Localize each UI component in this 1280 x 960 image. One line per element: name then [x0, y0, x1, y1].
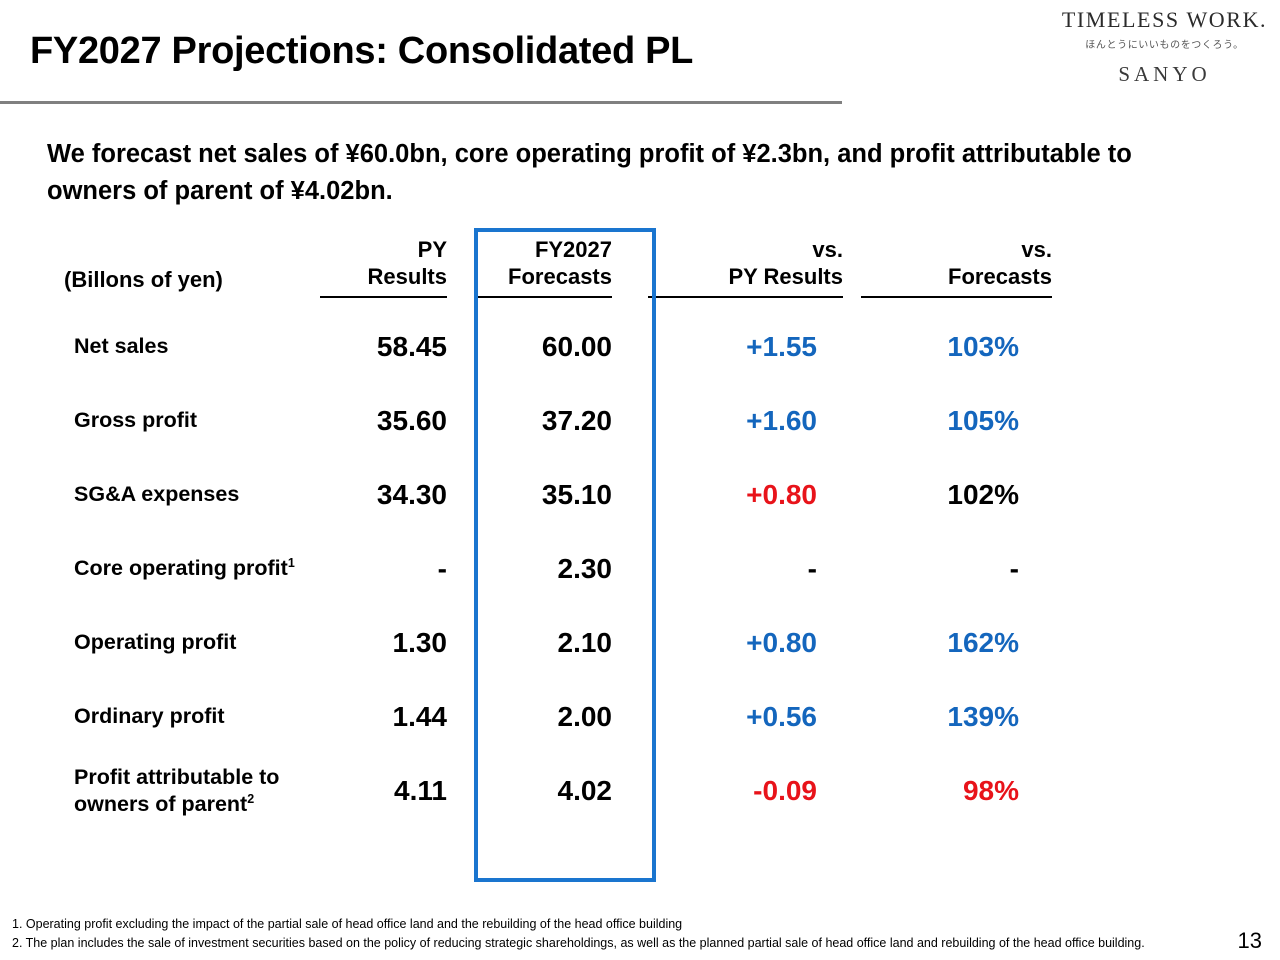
row-label-footnote-marker: 2	[247, 791, 254, 805]
table-row: SG&A expenses34.3035.10+0.80102%	[56, 458, 1056, 532]
row-label-text: Gross profit	[74, 408, 197, 432]
logo-tagline-japanese: ほんとうにいいものをつくろう。	[1057, 36, 1272, 51]
row-label-text: Core operating profit	[74, 556, 288, 580]
cell-fy2027-forecast: 2.10	[461, 606, 634, 680]
row-label: Core operating profit1	[56, 532, 306, 606]
cell-fy2027-forecast: 2.30	[461, 532, 634, 606]
column-header-vs-forecasts: vs. Forecasts	[847, 236, 1056, 310]
column-header-vs-py-results-line2: PY Results	[728, 264, 843, 289]
logo-tagline-main: TIMELESS WORK.	[1057, 8, 1272, 32]
column-header-vs-py-results-line1: vs.	[812, 237, 843, 262]
page-title: FY2027 Projections: Consolidated PL	[30, 30, 693, 73]
row-label: Gross profit	[56, 384, 306, 458]
cell-vs-forecasts: 98%	[847, 754, 1056, 828]
row-label: Ordinary profit	[56, 680, 306, 754]
table-header-row: (Billons of yen) PY Results FY2027 Forec…	[56, 236, 1056, 310]
cell-py-results: 1.44	[306, 680, 461, 754]
company-logo: TIMELESS WORK. ほんとうにいいものをつくろう。 SANYO	[1057, 8, 1272, 87]
cell-vs-py-results: -	[634, 532, 847, 606]
cell-vs-py-results: +0.56	[634, 680, 847, 754]
cell-fy2027-forecast: 4.02	[461, 754, 634, 828]
row-label-text: Operating profit	[74, 630, 236, 654]
row-label: Net sales	[56, 310, 306, 384]
lead-summary-text: We forecast net sales of ¥60.0bn, core o…	[47, 136, 1217, 211]
row-label-text: Ordinary profit	[74, 704, 225, 728]
cell-vs-forecasts: -	[847, 532, 1056, 606]
cell-vs-py-results: +0.80	[634, 606, 847, 680]
cell-py-results: 34.30	[306, 458, 461, 532]
column-header-vs-forecasts-line1: vs.	[1021, 237, 1052, 262]
table-row: Net sales58.4560.00+1.55103%	[56, 310, 1056, 384]
cell-fy2027-forecast: 37.20	[461, 384, 634, 458]
footnote-1: 1. Operating profit excluding the impact…	[12, 915, 1145, 934]
cell-fy2027-forecast: 60.00	[461, 310, 634, 384]
cell-py-results: 4.11	[306, 754, 461, 828]
page-number: 13	[1238, 928, 1262, 954]
cell-vs-forecasts: 162%	[847, 606, 1056, 680]
cell-vs-py-results: -0.09	[634, 754, 847, 828]
cell-py-results: 35.60	[306, 384, 461, 458]
column-header-vs-forecasts-line2: Forecasts	[948, 264, 1052, 289]
table-row: Operating profit1.302.10+0.80162%	[56, 606, 1056, 680]
table-row: Gross profit35.6037.20+1.60105%	[56, 384, 1056, 458]
column-header-py-results-line1: PY	[418, 237, 447, 262]
row-label: Operating profit	[56, 606, 306, 680]
row-label-text: Net sales	[74, 334, 168, 358]
title-divider	[0, 101, 842, 104]
cell-py-results: -	[306, 532, 461, 606]
column-header-fy2027-forecasts-line1: FY2027	[535, 237, 612, 262]
cell-vs-forecasts: 105%	[847, 384, 1056, 458]
cell-vs-py-results: +1.55	[634, 310, 847, 384]
table-body: Net sales58.4560.00+1.55103%Gross profit…	[56, 310, 1056, 828]
footnotes: 1. Operating profit excluding the impact…	[12, 915, 1145, 952]
footnote-2: 2. The plan includes the sale of investm…	[12, 934, 1145, 953]
logo-brand-name: SANYO	[1057, 62, 1272, 87]
cell-vs-forecasts: 102%	[847, 458, 1056, 532]
table-row: Ordinary profit1.442.00+0.56139%	[56, 680, 1056, 754]
cell-vs-forecasts: 139%	[847, 680, 1056, 754]
cell-fy2027-forecast: 35.10	[461, 458, 634, 532]
table-row: Profit attributable to owners of parent2…	[56, 754, 1056, 828]
column-header-fy2027-forecasts: FY2027 Forecasts	[461, 236, 634, 310]
column-header-py-results-line2: Results	[368, 264, 447, 289]
consolidated-pl-table: (Billons of yen) PY Results FY2027 Forec…	[56, 236, 1056, 828]
table-header: (Billons of yen) PY Results FY2027 Forec…	[56, 236, 1056, 310]
row-label: Profit attributable to owners of parent2	[56, 754, 306, 828]
cell-py-results: 58.45	[306, 310, 461, 384]
column-header-vs-py-results: vs. PY Results	[634, 236, 847, 310]
row-label-footnote-marker: 1	[288, 556, 295, 570]
column-header-py-results: PY Results	[306, 236, 461, 310]
row-label-text: SG&A expenses	[74, 482, 239, 506]
column-header-fy2027-forecasts-line2: Forecasts	[508, 264, 612, 289]
cell-vs-py-results: +0.80	[634, 458, 847, 532]
table-row: Core operating profit1-2.30--	[56, 532, 1056, 606]
unit-header: (Billons of yen)	[56, 236, 306, 310]
cell-vs-forecasts: 103%	[847, 310, 1056, 384]
row-label: SG&A expenses	[56, 458, 306, 532]
cell-vs-py-results: +1.60	[634, 384, 847, 458]
cell-py-results: 1.30	[306, 606, 461, 680]
cell-fy2027-forecast: 2.00	[461, 680, 634, 754]
